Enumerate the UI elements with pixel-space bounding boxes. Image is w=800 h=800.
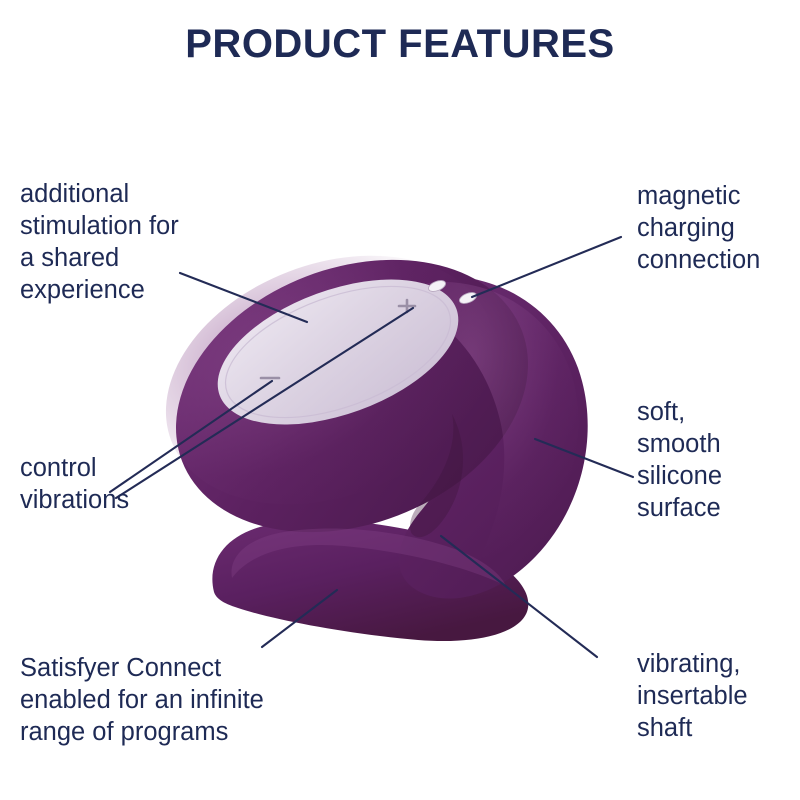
magnetic-charging-contacts <box>427 278 478 305</box>
shaft-sheen <box>231 528 506 586</box>
device-right-lobe <box>346 276 587 599</box>
leader-line-connect <box>262 590 337 647</box>
callout-additional-stimulation: additional stimulation for a shared expe… <box>20 178 250 307</box>
plus-icon[interactable] <box>399 300 415 312</box>
callout-magnetic-charging: magnetic charging connection <box>637 180 800 276</box>
product-features-infographic: PRODUCT FEATURES <box>0 0 800 800</box>
callout-vibrating-shaft: vibrating, insertable shaft <box>637 648 800 744</box>
leader-line-magnetic <box>472 237 621 297</box>
device-inner-shadow <box>410 414 463 537</box>
insertable-shaft <box>212 520 528 641</box>
callout-soft-silicone: soft, smooth silicone surface <box>637 396 800 525</box>
charging-contact-lower <box>458 290 478 305</box>
leader-line-soft <box>535 439 633 477</box>
charging-contact-upper <box>427 278 447 293</box>
leader-line-vibrating <box>441 536 597 657</box>
page-title: PRODUCT FEATURES <box>0 22 800 67</box>
callout-satisfyer-connect: Satisfyer Connect enabled for an infinit… <box>20 652 360 748</box>
callout-control-vibrations: control vibrations <box>20 452 240 516</box>
right-lobe-sheen <box>400 282 579 576</box>
